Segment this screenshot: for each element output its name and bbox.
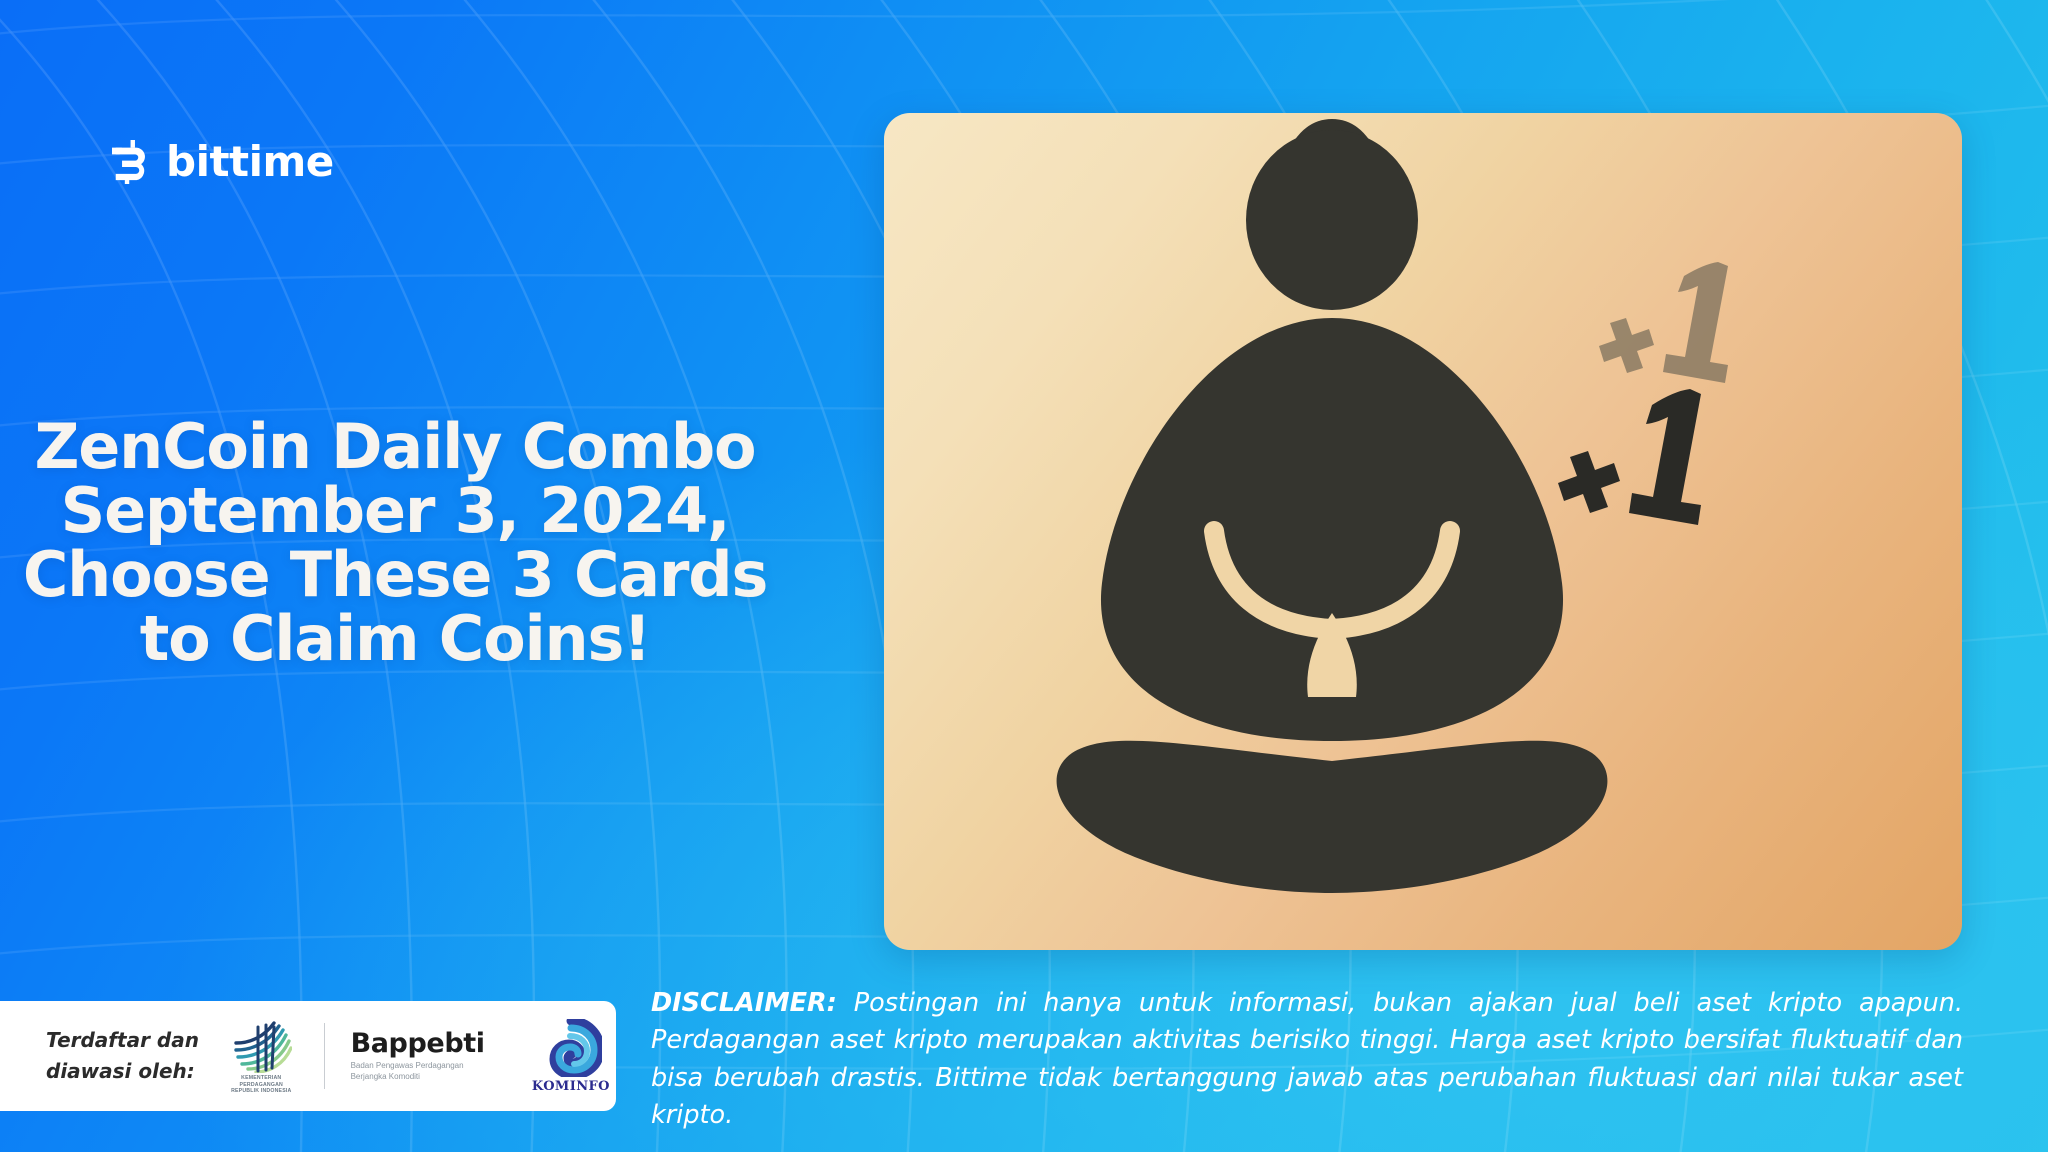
page-title: ZenCoin Daily Combo September 3, 2024, C… [0,415,790,670]
headline-line-3: Choose These 3 Cards [0,543,790,607]
kemendag-caption-line-3: REPUBLIK INDONESIA [231,1088,291,1095]
kominfo-label: KOMINFO [532,1079,610,1094]
regulator-badge-bar: Terdaftar dan diawasi oleh: KEMENTERIAN … [0,1001,616,1111]
kominfo-badge: KOMINFO [526,1019,616,1094]
bittime-bitcoin-b-mark [112,140,152,184]
regulator-intro-line-2: diawasi oleh: [46,1056,199,1087]
bappebti-badge: Bappebti Badan Pengawas Perdagangan Berj… [351,1030,500,1083]
headline-line-2: September 3, 2024, [0,479,790,543]
disclaimer-label: DISCLAIMER: [651,988,837,1018]
badge-divider [324,1023,325,1089]
regulator-intro: Terdaftar dan diawasi oleh: [46,1025,199,1087]
regulator-intro-line-1: Terdaftar dan [46,1025,199,1056]
disclaimer-body: Postingan ini hanya untuk informasi, buk… [651,988,1963,1130]
kemendag-badge: KEMENTERIAN PERDAGANGAN REPUBLIK INDONES… [225,1017,298,1095]
disclaimer-text: DISCLAIMER: Postingan ini hanya untuk in… [651,985,1963,1135]
bittime-logo[interactable]: bittime [112,140,334,184]
headline-line-4: to Claim Coins! [0,607,790,671]
illustration-card [884,113,1962,950]
bappebti-subtitle: Badan Pengawas Perdagangan Berjangka Kom… [351,1061,500,1083]
bittime-wordmark: bittime [166,141,334,183]
kementerian-perdagangan-logo [230,1017,292,1073]
headline-line-1: ZenCoin Daily Combo [0,415,790,479]
plus-one-faded [1599,262,1728,383]
kemendag-caption: KEMENTERIAN PERDAGANGAN REPUBLIK INDONES… [231,1075,291,1095]
bappebti-title: Bappebti [351,1030,500,1057]
plus-one-solid [1558,389,1701,525]
meditating-figure-icon [884,113,1962,950]
kominfo-logo [540,1019,602,1077]
